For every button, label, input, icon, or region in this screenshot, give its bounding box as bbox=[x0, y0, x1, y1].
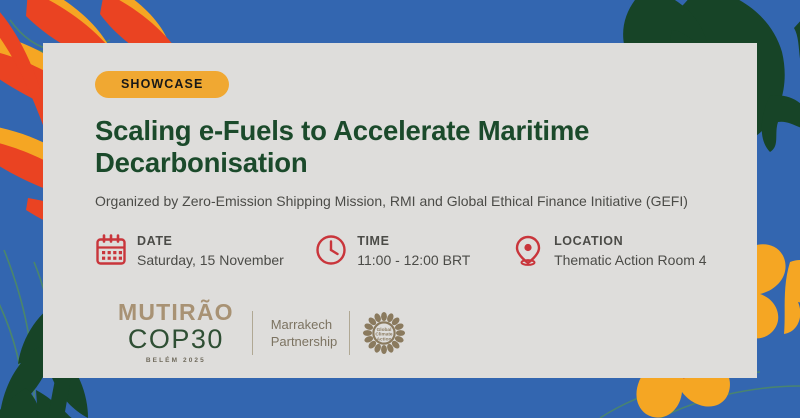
location-label: LOCATION bbox=[554, 235, 707, 249]
marrakech-line2: Partnership bbox=[271, 333, 337, 350]
date-value: Saturday, 15 November bbox=[137, 251, 284, 270]
showcase-badge: SHOWCASE bbox=[95, 71, 229, 98]
calendar-icon bbox=[95, 234, 127, 266]
location-value: Thematic Action Room 4 bbox=[554, 251, 707, 270]
cop30-logo-belem: BELÉM 2025 bbox=[118, 358, 234, 365]
logo-strip: MUTIRÃO COP30 BELÉM 2025 Marrakech Partn… bbox=[118, 301, 406, 365]
marrakech-partnership-logo: Marrakech Partnership bbox=[271, 311, 406, 355]
event-poster: SHOWCASE Scaling e-Fuels to Accelerate M… bbox=[0, 0, 800, 418]
marrakech-line1: Marrakech bbox=[271, 316, 337, 333]
time-label: TIME bbox=[357, 235, 470, 249]
page-title: Scaling e-Fuels to Accelerate Maritime D… bbox=[95, 115, 695, 180]
detail-time: TIME 11:00 - 12:00 BRT bbox=[315, 233, 512, 271]
clock-icon bbox=[315, 234, 347, 266]
cop30-logo-mutirao: MUTIRÃO bbox=[118, 301, 234, 324]
logo-divider bbox=[252, 311, 253, 355]
date-label: DATE bbox=[137, 235, 284, 249]
time-value: 11:00 - 12:00 BRT bbox=[357, 251, 470, 270]
cop30-logo-cop30: COP30 bbox=[118, 326, 234, 353]
detail-location: LOCATION Thematic Action Room 4 bbox=[512, 233, 737, 271]
logo-divider-2 bbox=[349, 311, 350, 355]
organizers-subtitle: Organized by Zero-Emission Shipping Miss… bbox=[95, 192, 737, 210]
content-card: SHOWCASE Scaling e-Fuels to Accelerate M… bbox=[43, 43, 757, 378]
global-climate-action-emblem: Global Climate Action bbox=[362, 311, 406, 355]
cop30-logo: MUTIRÃO COP30 BELÉM 2025 bbox=[118, 301, 234, 365]
emblem-line3: Action bbox=[377, 336, 392, 342]
location-pin-icon bbox=[512, 234, 544, 266]
event-details-row: DATE Saturday, 15 November TIME 11:00 - … bbox=[95, 233, 737, 271]
detail-date: DATE Saturday, 15 November bbox=[95, 233, 315, 271]
